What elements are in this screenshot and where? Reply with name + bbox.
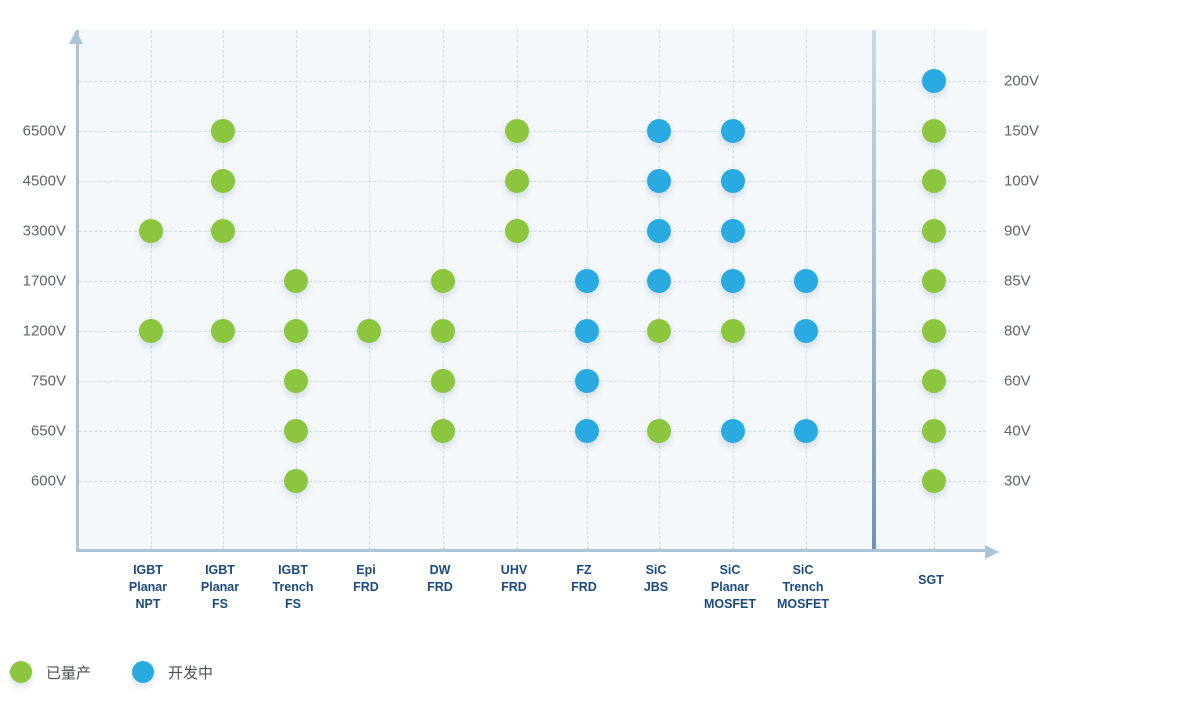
data-point-dot[interactable] [575, 269, 599, 293]
data-point-dot[interactable] [647, 269, 671, 293]
data-point-dot[interactable] [211, 319, 235, 343]
gridline-vertical [369, 30, 370, 549]
data-point-dot[interactable] [922, 319, 946, 343]
data-point-dot[interactable] [647, 319, 671, 343]
gridline-vertical [151, 30, 152, 549]
x-axis-category-label-line: FS [238, 596, 348, 613]
data-point-dot[interactable] [284, 469, 308, 493]
legend-color-swatch-icon [10, 661, 32, 683]
y-axis-right-tick-label: 60V [1004, 373, 1084, 390]
data-point-dot[interactable] [284, 369, 308, 393]
data-point-dot[interactable] [647, 219, 671, 243]
y-axis-left-tick-label: 650V [0, 423, 66, 440]
data-point-dot[interactable] [505, 169, 529, 193]
data-point-dot[interactable] [431, 269, 455, 293]
y-axis-right-tick-label: 90V [1004, 223, 1084, 240]
data-point-dot[interactable] [721, 119, 745, 143]
y-axis-left-tick-label: 4500V [0, 173, 66, 190]
data-point-dot[interactable] [431, 369, 455, 393]
legend-label: 已量产 [46, 662, 91, 683]
data-point-dot[interactable] [647, 419, 671, 443]
y-axis-left-tick-label: 6500V [0, 123, 66, 140]
legend-item[interactable]: 已量产 [10, 661, 91, 683]
x-axis-category-label: SiCTrenchMOSFET [748, 562, 858, 613]
x-axis-category-label: SGT [876, 572, 986, 589]
x-axis-category-label-line: MOSFET [748, 596, 858, 613]
data-point-dot[interactable] [922, 419, 946, 443]
data-point-dot[interactable] [211, 219, 235, 243]
data-point-dot[interactable] [922, 469, 946, 493]
data-point-dot[interactable] [647, 169, 671, 193]
gridline-horizontal [79, 431, 986, 432]
data-point-dot[interactable] [357, 319, 381, 343]
y-axis-left-tick-label: 1200V [0, 323, 66, 340]
legend-label: 开发中 [168, 662, 213, 683]
y-axis-right-tick-label: 30V [1004, 473, 1084, 490]
data-point-dot[interactable] [721, 419, 745, 443]
data-point-dot[interactable] [284, 269, 308, 293]
y-axis-right-tick-label: 150V [1004, 123, 1084, 140]
data-point-dot[interactable] [505, 119, 529, 143]
chart-root: 6500V4500V3300V1700V1200V750V650V600V 20… [0, 0, 1202, 706]
data-point-dot[interactable] [922, 269, 946, 293]
y-axis-right-tick-label: 100V [1004, 173, 1084, 190]
data-point-dot[interactable] [431, 319, 455, 343]
gridline-horizontal [79, 281, 986, 282]
data-point-dot[interactable] [575, 369, 599, 393]
sgt-section-divider [872, 30, 876, 549]
gridline-vertical [223, 30, 224, 549]
data-point-dot[interactable] [922, 219, 946, 243]
data-point-dot[interactable] [721, 319, 745, 343]
x-axis-category-label-line: SiC [748, 562, 858, 579]
legend: 已量产开发中 [0, 655, 400, 695]
data-point-dot[interactable] [139, 219, 163, 243]
y-axis-left-tick-label: 750V [0, 373, 66, 390]
data-point-dot[interactable] [721, 269, 745, 293]
y-axis-right-tick-label: 85V [1004, 273, 1084, 290]
data-point-dot[interactable] [575, 419, 599, 443]
y-axis-right-tick-label: 40V [1004, 423, 1084, 440]
y-axis-left-tick-label: 600V [0, 473, 66, 490]
data-point-dot[interactable] [284, 419, 308, 443]
data-point-dot[interactable] [922, 69, 946, 93]
data-point-dot[interactable] [139, 319, 163, 343]
y-axis-left-tick-label: 3300V [0, 223, 66, 240]
data-point-dot[interactable] [211, 169, 235, 193]
gridline-horizontal [79, 481, 986, 482]
data-point-dot[interactable] [794, 319, 818, 343]
x-axis-category-label-line: SGT [876, 572, 986, 589]
data-point-dot[interactable] [922, 169, 946, 193]
y-axis-arrow-icon [69, 30, 83, 44]
y-axis-right-tick-label: 200V [1004, 73, 1084, 90]
data-point-dot[interactable] [431, 419, 455, 443]
plot-area [76, 30, 986, 552]
data-point-dot[interactable] [575, 319, 599, 343]
y-axis-right-tick-label: 80V [1004, 323, 1084, 340]
data-point-dot[interactable] [284, 319, 308, 343]
x-axis-arrow-icon [985, 545, 999, 559]
gridline-horizontal [79, 381, 986, 382]
data-point-dot[interactable] [211, 119, 235, 143]
gridline-horizontal [79, 81, 986, 82]
gridline-vertical [517, 30, 518, 549]
legend-item[interactable]: 开发中 [132, 661, 213, 683]
data-point-dot[interactable] [922, 369, 946, 393]
data-point-dot[interactable] [794, 419, 818, 443]
data-point-dot[interactable] [794, 269, 818, 293]
legend-color-swatch-icon [132, 661, 154, 683]
data-point-dot[interactable] [922, 119, 946, 143]
x-axis-category-label-line: Trench [748, 579, 858, 596]
data-point-dot[interactable] [721, 219, 745, 243]
data-point-dot[interactable] [647, 119, 671, 143]
y-axis-left-tick-label: 1700V [0, 273, 66, 290]
data-point-dot[interactable] [721, 169, 745, 193]
data-point-dot[interactable] [505, 219, 529, 243]
